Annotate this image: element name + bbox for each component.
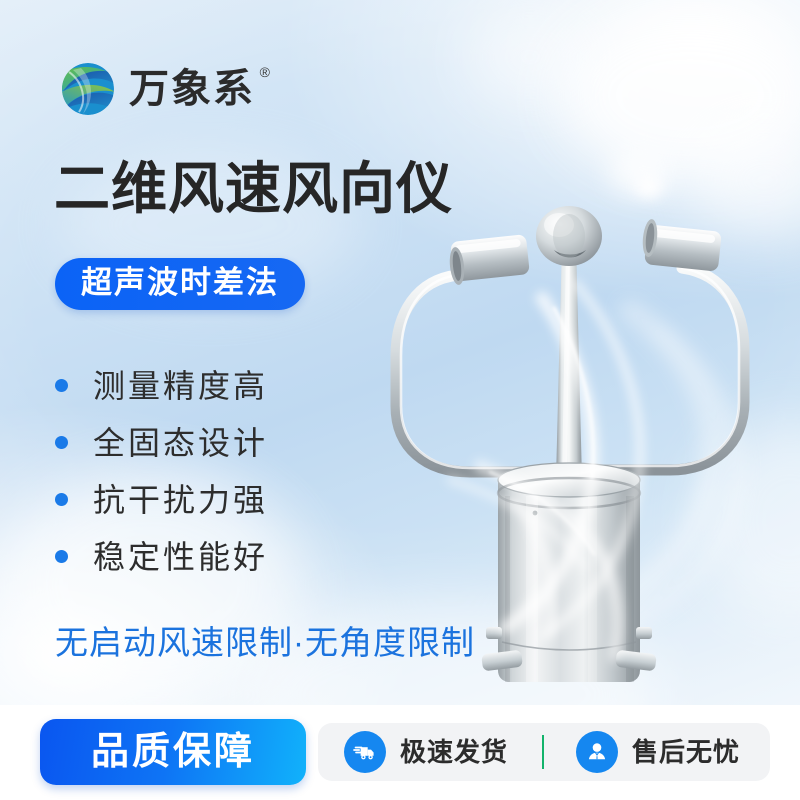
method-badge: 超声波时差法 xyxy=(55,258,305,310)
service-strip: 极速发货 售后无忧 xyxy=(318,723,770,781)
brand-name-label: 万象系 xyxy=(129,67,255,111)
bottom-bar: 品质保障 极速发货 xyxy=(0,705,800,800)
left-transducer-arm xyxy=(396,275,544,472)
left-transducer-head xyxy=(448,234,530,285)
brand-logo: 万象系 ® xyxy=(57,58,255,120)
list-item: 稳定性能好 xyxy=(55,528,268,585)
registered-trademark-icon: ® xyxy=(260,65,272,79)
quality-guarantee-label: 品质保障 xyxy=(91,733,255,771)
method-badge-label: 超声波时差法 xyxy=(81,267,279,298)
service-divider xyxy=(542,735,544,769)
service-label-shipping: 极速发货 xyxy=(400,739,508,765)
center-transducer-head xyxy=(536,206,602,266)
delivery-truck-icon xyxy=(344,731,386,773)
service-label-aftersales: 售后无忧 xyxy=(632,739,740,765)
globe-swirl-logo-icon xyxy=(57,58,119,120)
feature-label: 全固态设计 xyxy=(93,427,268,459)
bullet-dot-icon xyxy=(55,436,68,449)
bullet-dot-icon xyxy=(55,550,68,563)
product-image-ultrasonic-anemometer xyxy=(330,180,800,700)
list-item: 抗干扰力强 xyxy=(55,471,268,528)
bullet-dot-icon xyxy=(55,493,68,506)
feature-list: 测量精度高 全固态设计 抗干扰力强 稳定性能好 xyxy=(55,357,268,585)
feature-label: 抗干扰力强 xyxy=(93,484,268,516)
subtitle-text: 无启动风速限制·无角度限制 xyxy=(55,626,475,659)
support-agent-icon xyxy=(576,731,618,773)
feature-label: 稳定性能好 xyxy=(93,541,268,573)
bullet-dot-icon xyxy=(55,379,68,392)
list-item: 全固态设计 xyxy=(55,414,268,471)
brand-name-text: 万象系 ® xyxy=(129,69,255,109)
product-poster: 万象系 ® 二维风速风向仪 超声波时差法 测量精度高 全固态设计 抗干扰力强 稳… xyxy=(0,0,800,800)
quality-guarantee-badge: 品质保障 xyxy=(40,719,306,785)
list-item: 测量精度高 xyxy=(55,357,268,414)
service-item-shipping: 极速发货 xyxy=(344,731,508,773)
service-item-aftersales: 售后无忧 xyxy=(576,731,740,773)
right-transducer-head xyxy=(641,218,722,271)
page-title: 二维风速风向仪 xyxy=(54,158,453,221)
feature-label: 测量精度高 xyxy=(93,370,268,402)
